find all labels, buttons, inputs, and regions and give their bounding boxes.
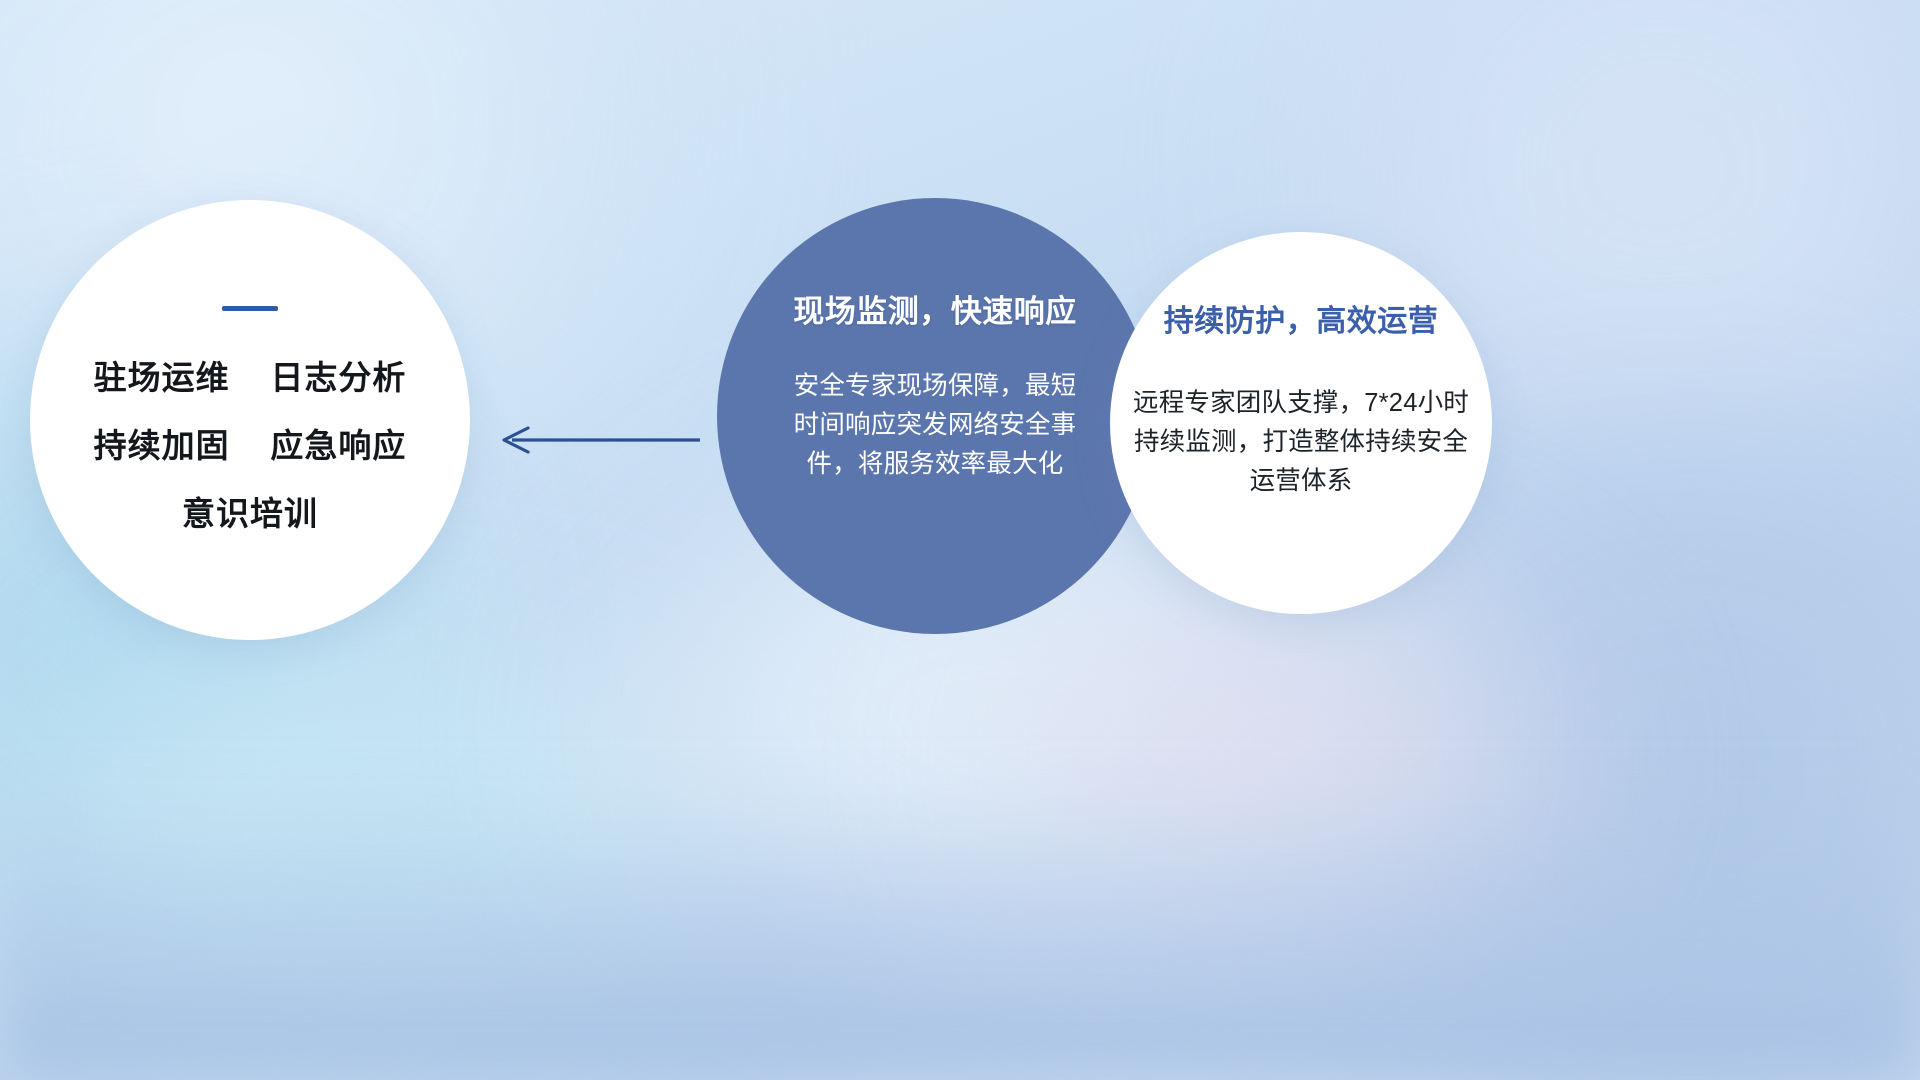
middle-circle-title: 现场监测，快速响应	[793, 286, 1077, 331]
middle-circle-body: 安全专家现场保障，最短时间响应突发网络安全事件，将服务效率最大化	[789, 367, 1081, 483]
horizontal-dash-icon	[222, 306, 278, 311]
left-arrow-icon	[504, 428, 700, 452]
capability-list: 驻场运维 日志分析 持续加固 应急响应 意识培训	[94, 351, 407, 535]
right-circle-body: 远程专家团队支撑，7*24小时持续监测，打造整体持续安全运营体系	[1131, 384, 1471, 500]
right-circle-title: 持续防护，高效运营	[1164, 296, 1439, 340]
right-operations-circle: 持续防护，高效运营 远程专家团队支撑，7*24小时持续监测，打造整体持续安全运营…	[1110, 232, 1492, 614]
slide-canvas: 驻场运维 日志分析 持续加固 应急响应 意识培训 现场监测，快速响应 安全专家现…	[0, 0, 1920, 1080]
capability-line-3: 意识培训	[182, 487, 318, 535]
capability-line-1: 驻场运维 日志分析	[94, 351, 407, 399]
middle-onsite-circle: 现场监测，快速响应 安全专家现场保障，最短时间响应突发网络安全事件，将服务效率最…	[717, 198, 1153, 634]
left-capability-circle: 驻场运维 日志分析 持续加固 应急响应 意识培训	[30, 200, 470, 640]
capability-line-2: 持续加固 应急响应	[94, 419, 407, 467]
